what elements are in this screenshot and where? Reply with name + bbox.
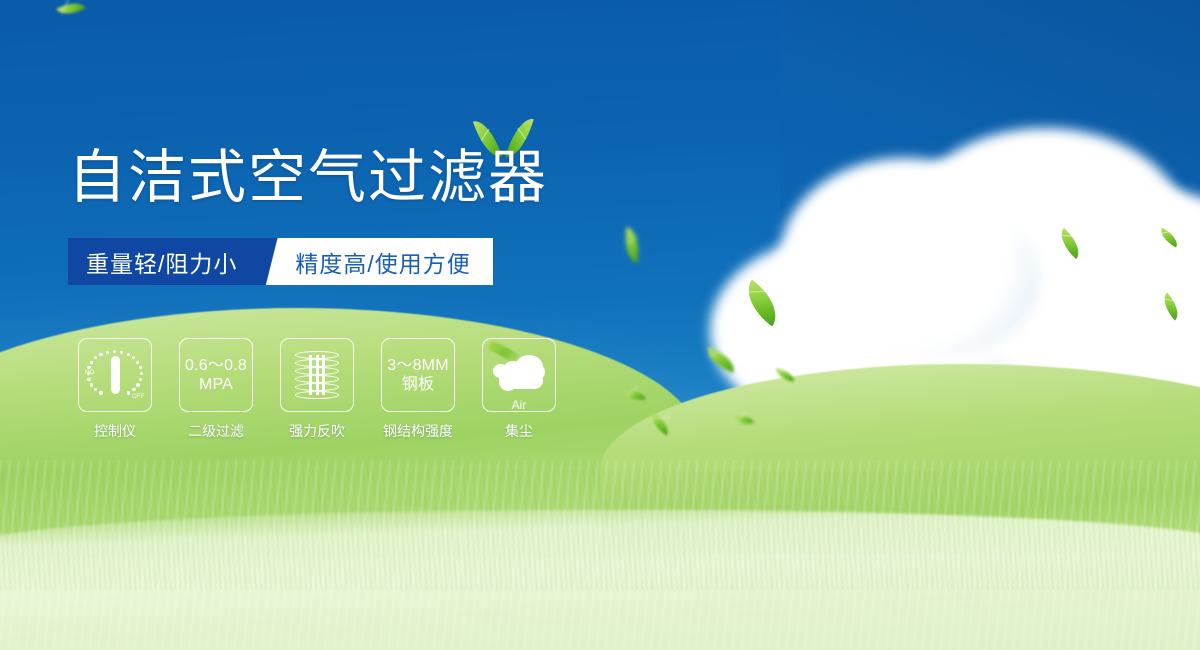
subtitle-divider <box>257 238 291 285</box>
pressure-line1: 0.6～0.8 <box>185 356 247 375</box>
feature-label: 二级过滤 <box>188 421 244 441</box>
air-text: Air <box>491 398 547 412</box>
subtitle-bar: 重量轻/阻力小 精度高/使用方便 <box>68 238 493 285</box>
feature-icon-box <box>280 338 354 412</box>
feature-icon-box: 0.6～0.8 MPA <box>179 338 253 412</box>
page-title: 自洁式空气过滤器 <box>68 146 548 210</box>
gauge-label-off: OFF <box>132 394 145 400</box>
pressure-line2: MPA <box>185 375 247 394</box>
subtitle-right: 精度高/使用方便 <box>291 238 492 285</box>
product-banner: 自洁式空气过滤器 重量轻/阻力小 精度高/使用方便 <box>0 0 1200 650</box>
feature-item-dust[interactable]: Air 集尘 <box>482 338 556 441</box>
pressure-text-icon: 0.6～0.8 MPA <box>185 356 247 394</box>
feature-item-steel[interactable]: 3～8MM 钢板 钢结构强度 <box>381 338 455 441</box>
feature-icon-box: NO OFF <box>78 338 152 412</box>
feature-item-control[interactable]: NO OFF 控制仪 <box>78 338 152 441</box>
feature-label: 集尘 <box>505 421 533 441</box>
coil-icon <box>295 351 339 399</box>
feature-list: NO OFF 控制仪 0.6～0.8 MPA 二级过滤 <box>78 338 556 441</box>
feature-icon-box: 3～8MM 钢板 <box>381 338 455 412</box>
gauge-label-no: NO <box>85 370 95 376</box>
feature-label: 控制仪 <box>94 421 136 441</box>
feature-item-blowback[interactable]: 强力反吹 <box>280 338 354 441</box>
feature-item-filter[interactable]: 0.6～0.8 MPA 二级过滤 <box>179 338 253 441</box>
feature-icon-box: Air <box>482 338 556 412</box>
steel-text-icon: 3～8MM 钢板 <box>387 356 448 394</box>
steel-line2: 钢板 <box>387 375 448 394</box>
gauge-icon: NO OFF <box>86 347 144 403</box>
steel-line1: 3～8MM <box>387 356 448 375</box>
feature-label: 钢结构强度 <box>383 421 453 441</box>
feature-label: 强力反吹 <box>289 421 345 441</box>
grass-light-streaks <box>0 460 1200 650</box>
subtitle-left: 重量轻/阻力小 <box>68 238 257 285</box>
cloud-air-icon: Air <box>491 353 547 397</box>
